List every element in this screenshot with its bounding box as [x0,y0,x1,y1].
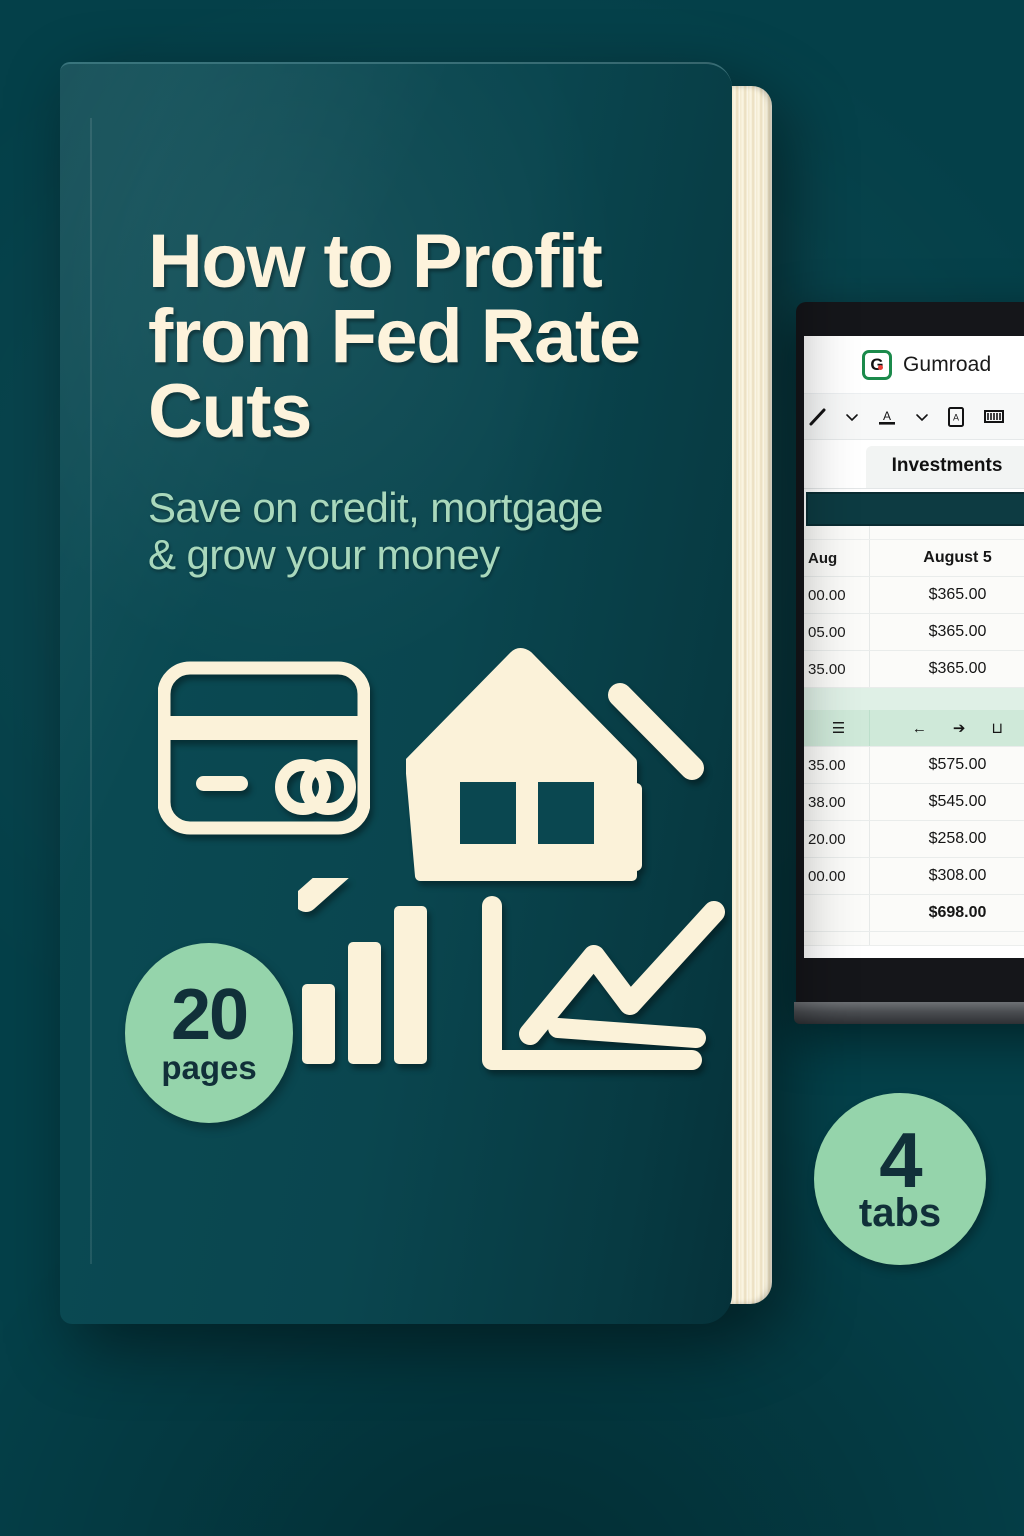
cell-left [804,932,870,945]
filter-icon[interactable] [983,407,1005,427]
table-row[interactable]: 20.00 $258.00 [804,821,1024,858]
ebook-cover-mockup: How to Profit from Fed Rate Cuts Save on… [60,62,772,1324]
table-row[interactable]: 35.00 $365.00 [804,651,1024,688]
grid-spacer-row [804,932,1024,946]
book-subtitle: Save on credit, mortgage & grow your mon… [148,484,688,578]
row-action-icons[interactable]: ← ➔ ⊔ [870,710,1024,746]
selected-header-band[interactable] [806,492,1024,526]
cell-left[interactable]: 35.00 [804,747,870,783]
svg-text:A: A [883,409,891,423]
cell-left[interactable]: 00.00 [804,858,870,894]
cell-total-amount[interactable]: $698.00 [870,895,1024,931]
app-title: Gumroad [903,353,991,377]
spreadsheet-app-bar: G Gumroad A [804,336,1024,394]
merge-cells-icon[interactable]: ⊔ [991,719,1003,737]
table-row[interactable]: 35.00 $575.00 [804,747,1024,784]
table-header-row: Aug August 5 [804,540,1024,577]
column-header-august-5: August 5 [870,540,1024,576]
cell-left [804,895,870,931]
grid-spacer-row [804,526,1024,540]
cell-amount[interactable]: $575.00 [870,747,1024,783]
sheet-tab-strip: Investments [804,440,1024,489]
tablet-base-edge [794,1002,1024,1024]
cell-amount[interactable]: $365.00 [870,651,1024,687]
table-row[interactable]: 05.00 $365.00 [804,614,1024,651]
cell-mid [870,932,1024,945]
cell-left[interactable]: 05.00 [804,614,870,650]
cell-left[interactable]: 00.00 [804,577,870,613]
gumroad-logo: G [862,350,892,380]
tabs-badge: 4 tabs [814,1093,986,1265]
insert-image-icon[interactable]: A [946,406,966,428]
credit-card-icon [158,654,370,847]
highlight-blank-row [804,688,1024,710]
column-header-aug: Aug [804,540,870,576]
cell-amount[interactable]: $545.00 [870,784,1024,820]
highlighted-action-row[interactable]: ☰ ← ➔ ⊔ [804,710,1024,747]
cell-left[interactable]: 38.00 [804,784,870,820]
tabs-badge-label: tabs [859,1193,941,1233]
pen-icon[interactable] [808,407,828,427]
table-row[interactable]: 38.00 $545.00 [804,784,1024,821]
tablet-device-mockup: G Gumroad A A [796,302,1024,1022]
menu-icon[interactable]: ☰ [804,710,870,746]
arrow-left-icon[interactable]: ← [912,720,927,737]
table-total-row[interactable]: $698.00 [804,895,1024,932]
house-icon [406,640,706,895]
pages-badge: 20 pages [125,943,293,1123]
spreadsheet-toolbar: A A [804,394,1024,440]
tab-investments[interactable]: Investments [866,446,1024,488]
text-color-icon[interactable]: A [876,406,898,428]
table-row[interactable]: 00.00 $365.00 ✓ [804,577,1024,614]
cell-amount[interactable]: $365.00 [870,577,1024,613]
pages-badge-label: pages [161,1051,256,1084]
cell-amount[interactable]: $308.00 [870,858,1024,894]
line-chart-icon [478,894,732,1089]
cell-left[interactable]: 20.00 [804,821,870,857]
pages-badge-number: 20 [171,982,247,1048]
arrow-right-icon[interactable]: ➔ [953,719,966,737]
cell-left[interactable]: 35.00 [804,651,870,687]
chevron-down-icon[interactable] [915,410,929,424]
book-front-cover: How to Profit from Fed Rate Cuts Save on… [60,62,732,1324]
tablet-screen: G Gumroad A A [804,336,1024,958]
cell-amount[interactable]: $258.00 [870,821,1024,857]
bar-chart-icon [298,878,498,1073]
chevron-down-icon[interactable] [845,410,859,424]
svg-text:A: A [953,412,959,422]
cell-mid [870,526,1024,539]
table-row[interactable]: 00.00 $308.00 [804,858,1024,895]
cell-amount[interactable]: $365.00 [870,614,1024,650]
spreadsheet-grid: Aug August 5 00.00 $365.00 ✓ 05.00 $365.… [804,526,1024,946]
book-title: How to Profit from Fed Rate Cuts [148,224,708,450]
cell-left [804,526,870,539]
tabs-badge-number: 4 [879,1125,920,1195]
